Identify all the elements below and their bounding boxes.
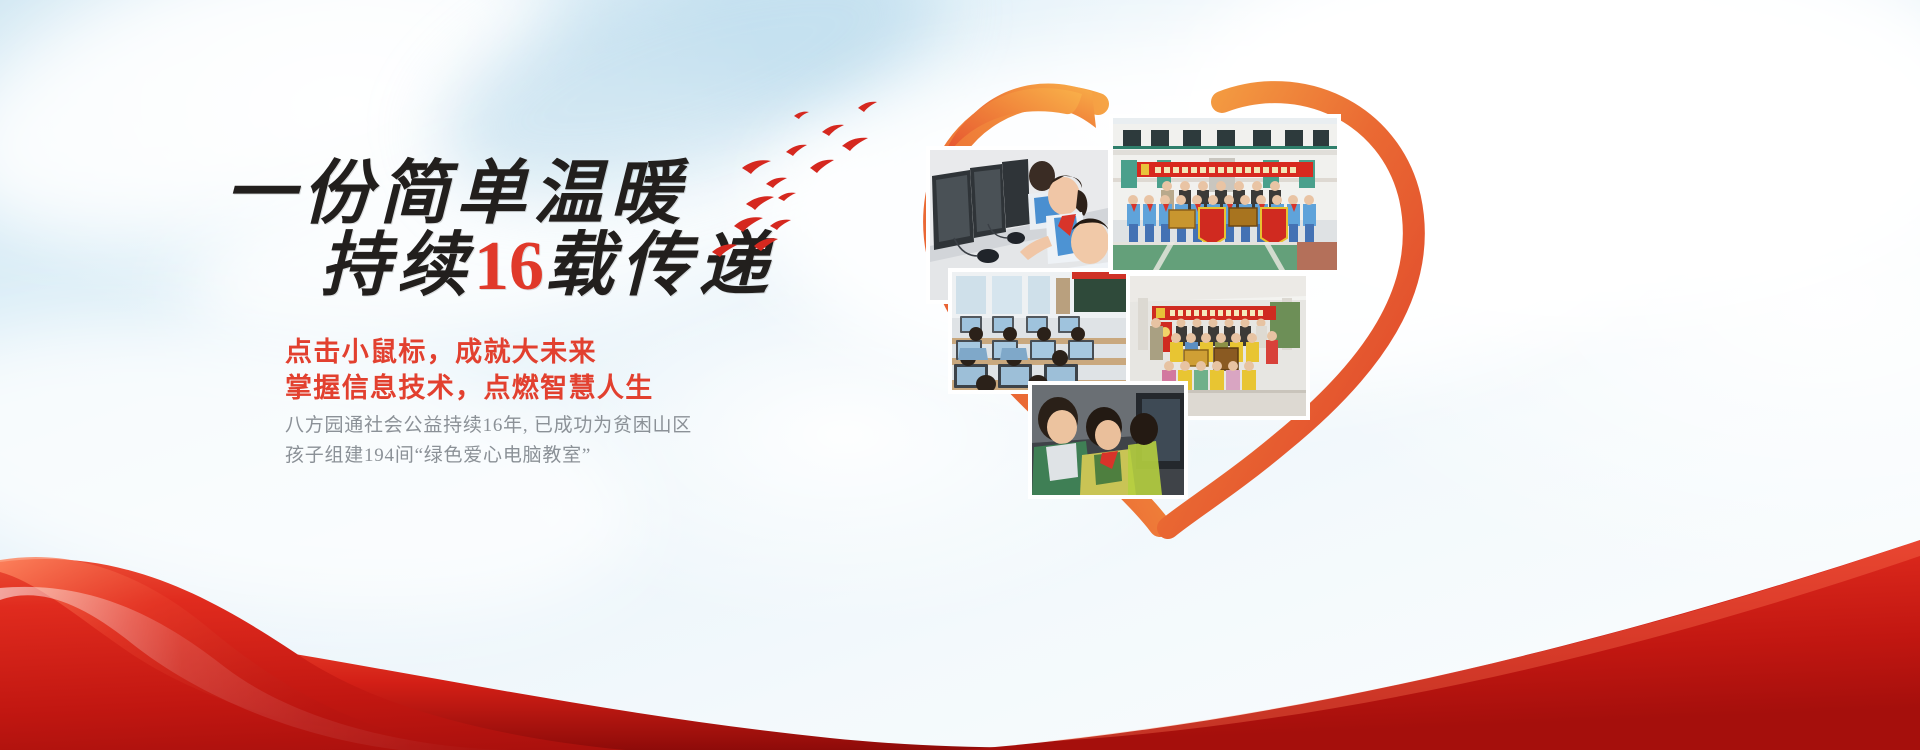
bird-icon [712,244,737,257]
photo-classroom-overview [952,272,1132,390]
bird-icon [746,196,774,210]
photo-donation-ceremony-school [1113,118,1337,270]
years-number: 16 [474,228,544,305]
charity-banner: 一份简单温暖 持续16载传递 点击小鼠标，成就大未来 掌握信息技术，点燃智慧人生… [0,0,1920,750]
headline-line-1: 一份简单温暖 [225,160,687,230]
bird-icon [786,145,807,156]
bird-icon [766,178,787,188]
bird-icon [734,217,763,232]
bird-icon [742,160,771,174]
headline-line-2-prefix: 持续 [320,228,474,305]
subtitle-line-1: 点击小鼠标，成就大未来 [285,330,597,369]
bird-icon [770,220,791,230]
bird-icon [778,193,796,201]
subtitle-line-2: 掌握信息技术，点燃智慧人生 [285,366,654,405]
bird-icon [794,112,809,119]
bird-icon [754,238,778,251]
red-silk-wave [0,420,1920,750]
